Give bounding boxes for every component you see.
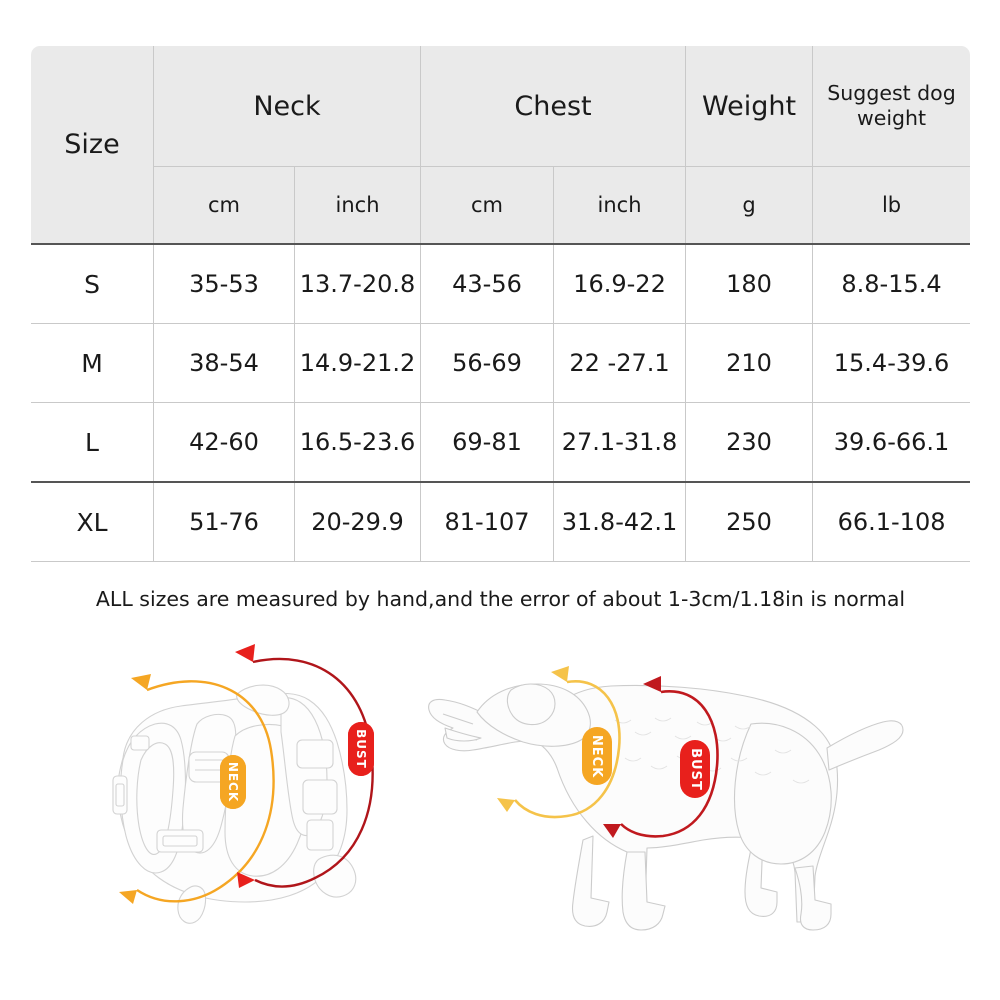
header-size: Size (31, 46, 154, 245)
cell-neck-inch: 14.9-21.2 (295, 324, 421, 403)
dog-neck-label: NECK (582, 727, 612, 785)
cell-size: M (31, 324, 154, 403)
cell-size: S (31, 244, 154, 324)
table-row: XL 51-76 20-29.9 81-107 31.8-42.1 250 66… (31, 482, 971, 562)
table-body: S 35-53 13.7-20.8 43-56 16.9-22 180 8.8-… (31, 244, 971, 636)
dog-measurement-illustration: NECK BUST (415, 640, 915, 950)
cell-weight-g: 180 (686, 244, 813, 324)
cell-suggest-lb: 15.4-39.6 (813, 324, 971, 403)
cell-weight-g: 210 (686, 324, 813, 403)
cell-neck-inch: 16.5-23.6 (295, 403, 421, 483)
cell-neck-cm: 51-76 (154, 482, 295, 562)
cell-size: XL (31, 482, 154, 562)
cell-neck-cm: 42-60 (154, 403, 295, 483)
subheader-weight-g: g (686, 167, 813, 245)
cell-suggest-lb: 8.8-15.4 (813, 244, 971, 324)
cell-chest-cm: 81-107 (421, 482, 554, 562)
cell-chest-inch: 22 -27.1 (554, 324, 686, 403)
cell-weight-g: 230 (686, 403, 813, 483)
cell-chest-inch: 27.1-31.8 (554, 403, 686, 483)
header-row-units: cm inch cm inch g lb (31, 167, 971, 245)
size-chart-table-container: Size Neck Chest Weight Suggest dog weigh… (30, 45, 970, 625)
subheader-suggest-lb: lb (813, 167, 971, 245)
header-row-main: Size Neck Chest Weight Suggest dog weigh… (31, 46, 971, 167)
table-row: L 42-60 16.5-23.6 69-81 27.1-31.8 230 39… (31, 403, 971, 483)
subheader-chest-inch: inch (554, 167, 686, 245)
cell-suggest-lb: 66.1-108 (813, 482, 971, 562)
size-chart-table: Size Neck Chest Weight Suggest dog weigh… (30, 45, 971, 636)
harness-bust-label: BUST (348, 722, 374, 776)
cell-neck-cm: 38-54 (154, 324, 295, 403)
cell-neck-cm: 35-53 (154, 244, 295, 324)
table-note-row: ALL sizes are measured by hand,and the e… (31, 562, 971, 636)
table-row: S 35-53 13.7-20.8 43-56 16.9-22 180 8.8-… (31, 244, 971, 324)
measurement-illustrations: NECK BUST (0, 640, 1000, 970)
header-suggest-dog-weight: Suggest dog weight (813, 46, 971, 167)
subheader-neck-inch: inch (295, 167, 421, 245)
harness-bust-label-text: BUST (354, 729, 368, 769)
dog-bust-label: BUST (680, 740, 710, 798)
table-row: M 38-54 14.9-21.2 56-69 22 -27.1 210 15.… (31, 324, 971, 403)
header-chest: Chest (421, 46, 686, 167)
dog-neck-label-text: NECK (590, 734, 605, 777)
cell-neck-inch: 13.7-20.8 (295, 244, 421, 324)
cell-chest-cm: 56-69 (421, 324, 554, 403)
harness-sketch-icon (85, 640, 415, 950)
cell-suggest-lb: 39.6-66.1 (813, 403, 971, 483)
subheader-neck-cm: cm (154, 167, 295, 245)
cell-weight-g: 250 (686, 482, 813, 562)
cell-neck-inch: 20-29.9 (295, 482, 421, 562)
subheader-chest-cm: cm (421, 167, 554, 245)
dog-bust-label-text: BUST (688, 748, 703, 791)
cell-size: L (31, 403, 154, 483)
harness-neck-label: NECK (220, 755, 246, 809)
cell-chest-cm: 43-56 (421, 244, 554, 324)
cell-chest-cm: 69-81 (421, 403, 554, 483)
cell-chest-inch: 31.8-42.1 (554, 482, 686, 562)
header-neck: Neck (154, 46, 421, 167)
measurement-note: ALL sizes are measured by hand,and the e… (31, 562, 971, 636)
table-header: Size Neck Chest Weight Suggest dog weigh… (31, 46, 971, 245)
header-weight: Weight (686, 46, 813, 167)
dog-sketch-icon (415, 640, 915, 950)
cell-chest-inch: 16.9-22 (554, 244, 686, 324)
harness-measurement-illustration: NECK BUST (85, 640, 415, 950)
harness-neck-label-text: NECK (226, 762, 240, 802)
